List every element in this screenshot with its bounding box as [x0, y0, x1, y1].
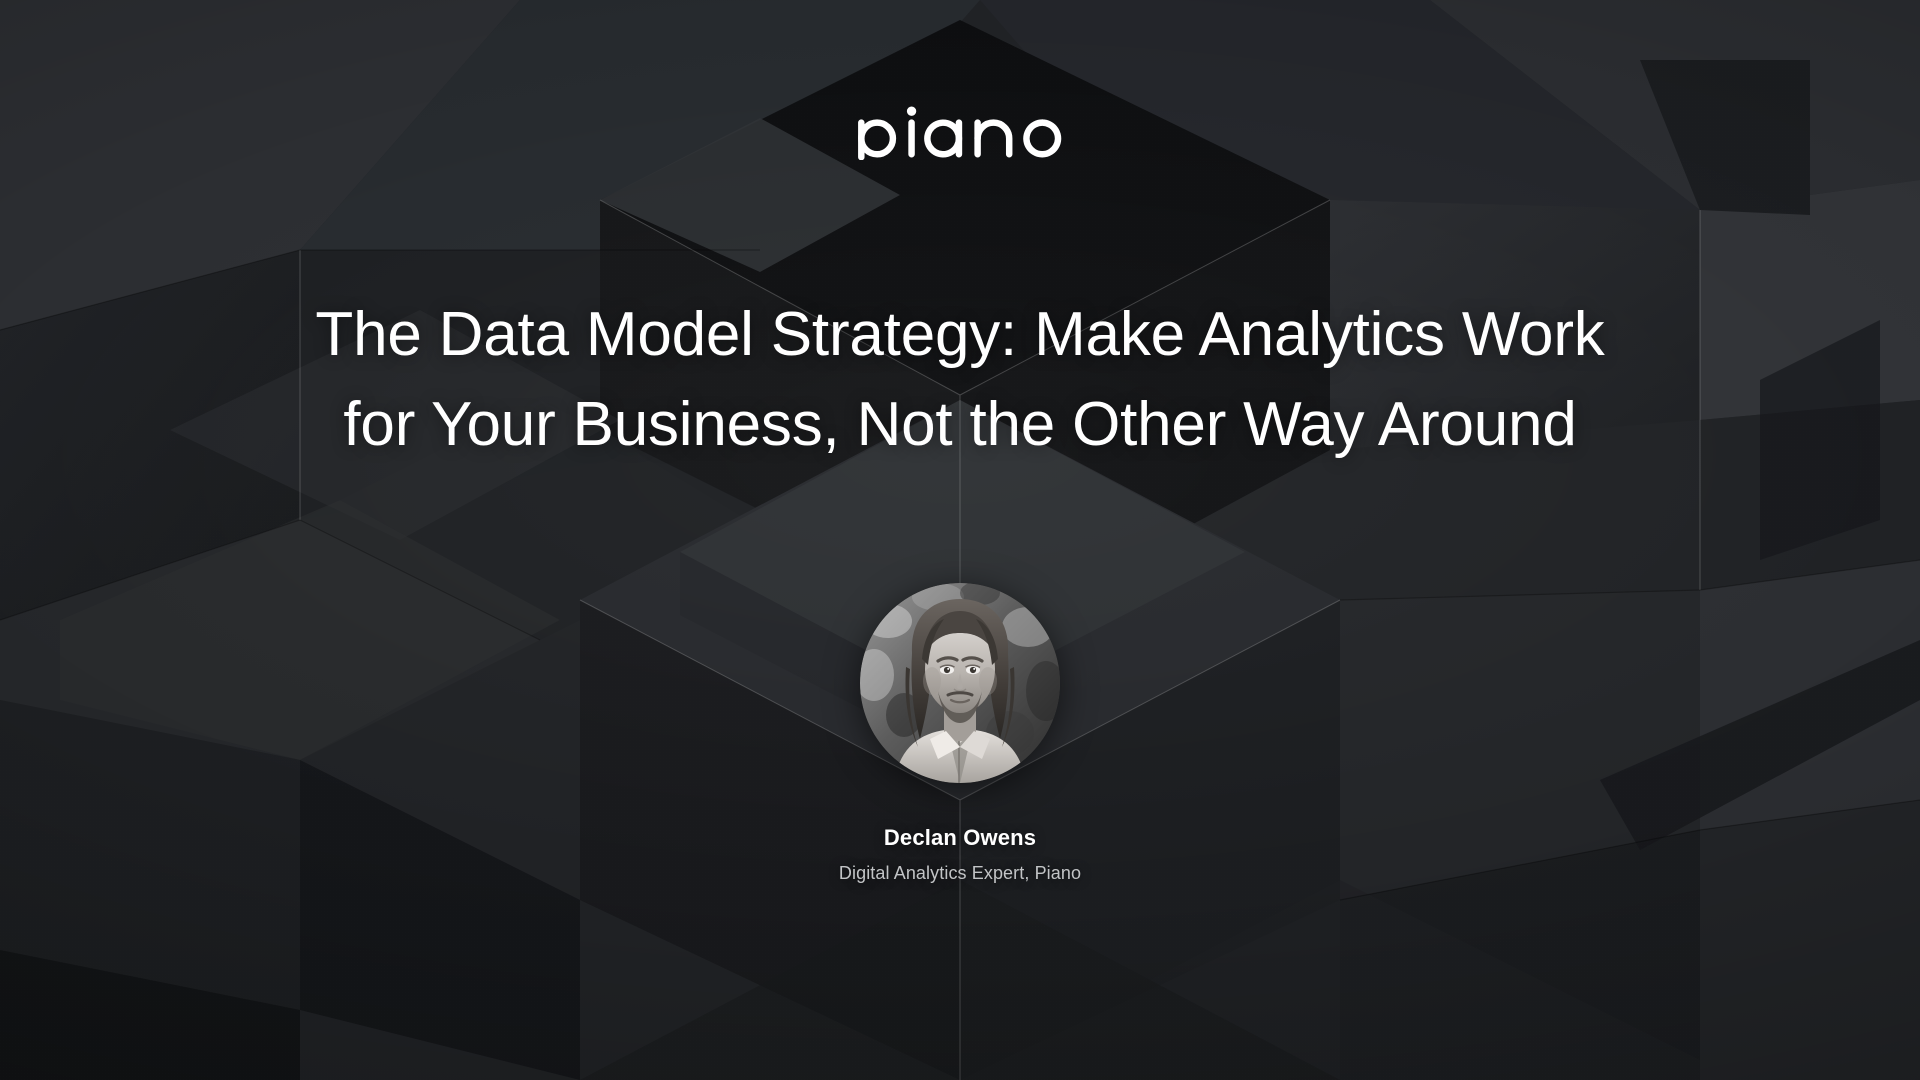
- title-line-2: for Your Business, Not the Other Way Aro…: [180, 380, 1740, 470]
- slide-root: The Data Model Strategy: Make Analytics …: [0, 0, 1920, 1080]
- title-line-1: The Data Model Strategy: Make Analytics …: [180, 290, 1740, 380]
- slide-content: The Data Model Strategy: Make Analytics …: [0, 0, 1920, 1080]
- speaker-avatar-wrapper: [0, 583, 1920, 783]
- speaker-role: Digital Analytics Expert, Piano: [0, 862, 1920, 885]
- piano-logo: [0, 96, 1920, 168]
- speaker-block: Declan Owens Digital Analytics Expert, P…: [0, 824, 1920, 884]
- speaker-name: Declan Owens: [0, 824, 1920, 852]
- avatar: [860, 583, 1060, 783]
- page-title: The Data Model Strategy: Make Analytics …: [0, 290, 1920, 470]
